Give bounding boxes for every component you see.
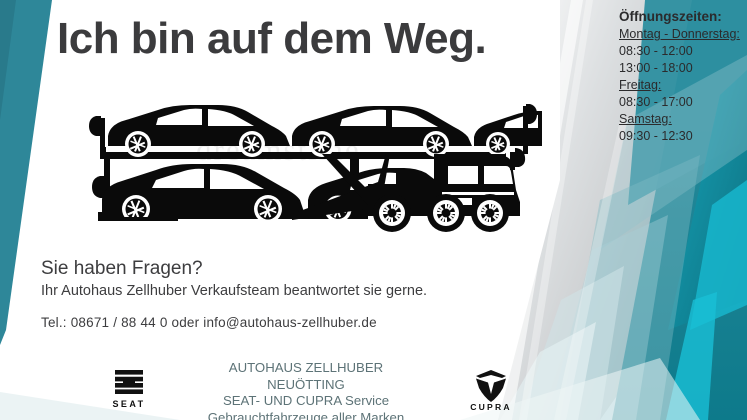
- footer-line-2: SEAT- UND CUPRA Service: [190, 393, 422, 410]
- questions-subtitle: Ihr Autohaus Zellhuber Verkaufsteam bean…: [41, 283, 427, 299]
- opening-hours-block: Öffnungszeiten: Montag - Donnerstag: 08:…: [619, 8, 743, 145]
- footer-line-1: AUTOHAUS ZELLHUBER NEUÖTTING: [190, 360, 422, 393]
- seat-logo-text: SEAT: [113, 399, 146, 409]
- footer-line-3: Gebrauchtfahrzeuge aller Marken: [190, 410, 422, 420]
- cupra-logo-text: CUPRA: [470, 402, 512, 412]
- cupra-logo-icon: CUPRA: [462, 364, 520, 412]
- questions-heading: Sie haben Fragen?: [41, 258, 203, 280]
- contact-line: Tel.: 08671 / 88 44 0 oder info@autohaus…: [41, 315, 377, 330]
- cab-window-side: [448, 166, 478, 184]
- opening-hours-time-1b: 13:00 - 18:00: [619, 60, 743, 77]
- seat-logo-icon: SEAT: [101, 366, 157, 412]
- opening-hours-day-3: Samstag:: [619, 111, 743, 128]
- opening-hours-time-2a: 08:30 - 17:00: [619, 94, 743, 111]
- cab-window-front: [484, 166, 513, 184]
- ground-line: [98, 217, 178, 221]
- opening-hours-day-2: Freitag:: [619, 77, 743, 94]
- opening-hours-title: Öffnungszeiten:: [619, 8, 743, 26]
- opening-hours-time-3a: 09:30 - 12:30: [619, 128, 743, 145]
- opening-hours-time-1a: 08:30 - 12:00: [619, 43, 743, 60]
- footer-company-text: AUTOHAUS ZELLHUBER NEUÖTTING SEAT- UND C…: [190, 360, 422, 420]
- car-transporter-truck-icon: [86, 84, 542, 236]
- opening-hours-day-1: Montag - Donnerstag:: [619, 26, 743, 43]
- poster-root: Ich bin auf dem Weg. dreamstime: [0, 0, 747, 420]
- page-title: Ich bin auf dem Weg.: [57, 14, 486, 64]
